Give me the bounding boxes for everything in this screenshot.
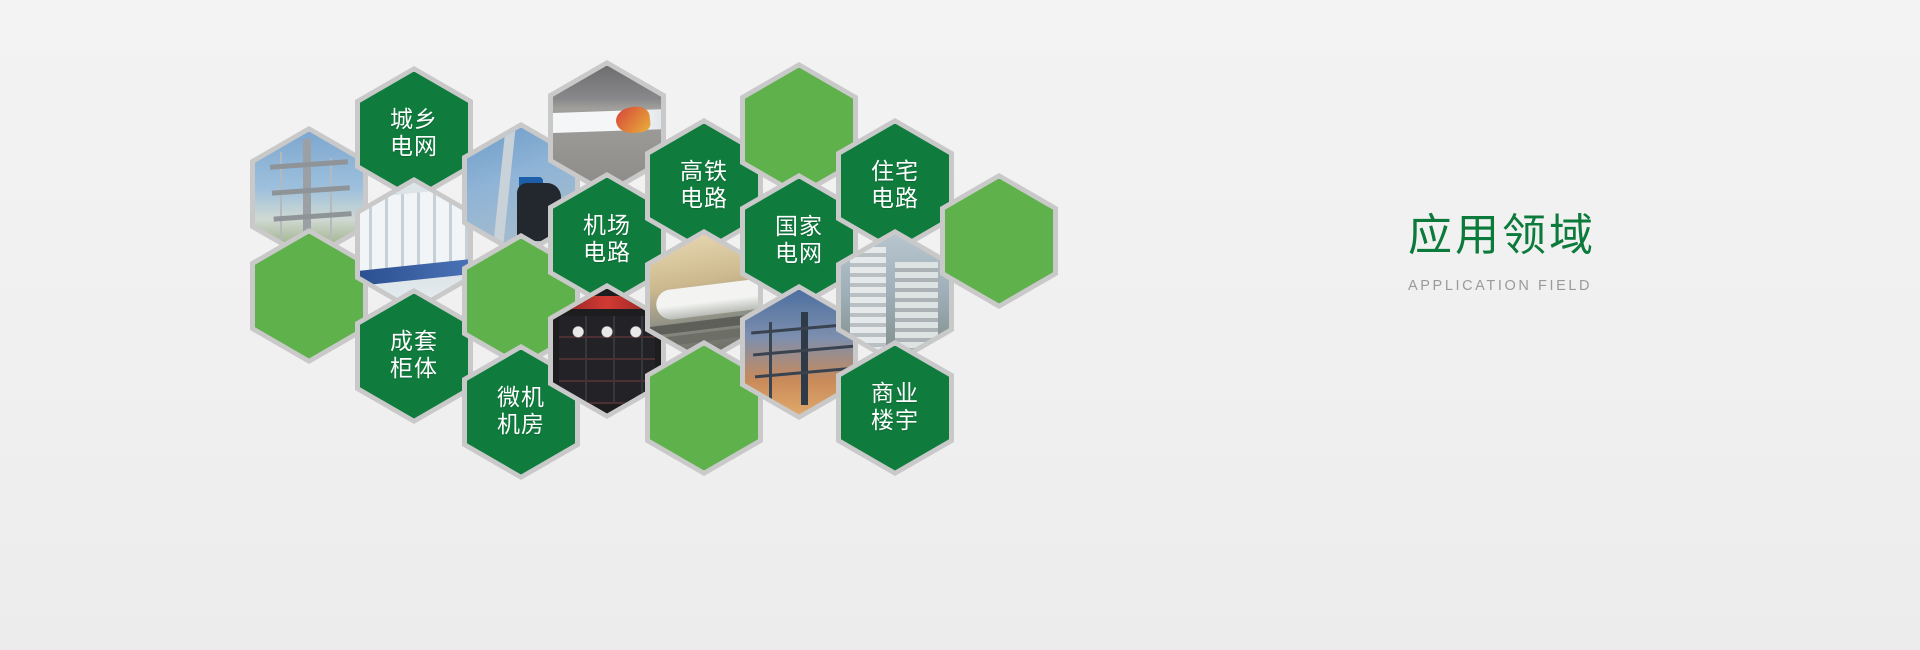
hexagon-chengtao-guiti[interactable]: 成套 柜体 bbox=[355, 288, 473, 424]
hexagon-honeycomb: 城乡 电网 成套 柜体 微机 机房 机场 电路 高铁 电路 bbox=[0, 0, 1120, 650]
application-field-banner: 城乡 电网 成套 柜体 微机 机房 机场 电路 高铁 电路 bbox=[0, 0, 1920, 650]
airport-apron-aircraft-photo bbox=[553, 66, 661, 191]
control-relay-panels-photo bbox=[553, 289, 661, 414]
headline-block: 应用领域 APPLICATION FIELD bbox=[1408, 212, 1838, 294]
hexagon-label: 住宅 电路 bbox=[871, 159, 919, 212]
hexagon-label: 城乡 电网 bbox=[390, 107, 438, 160]
hexagon-solid-1[interactable] bbox=[250, 228, 368, 364]
hexagon-label: 高铁 电路 bbox=[680, 159, 728, 212]
hexagon-label: 国家 电网 bbox=[775, 214, 823, 267]
hexagon-solid-5[interactable] bbox=[940, 173, 1058, 309]
page-title: 应用领域 bbox=[1408, 212, 1838, 260]
hexagon-label: 机场 电路 bbox=[583, 213, 631, 266]
hexagon-label: 微机 机房 bbox=[497, 385, 545, 438]
page-subtitle: APPLICATION FIELD bbox=[1408, 278, 1838, 294]
hexagon-label: 商业 楼宇 bbox=[871, 381, 919, 434]
hexagon-label: 成套 柜体 bbox=[390, 329, 438, 382]
